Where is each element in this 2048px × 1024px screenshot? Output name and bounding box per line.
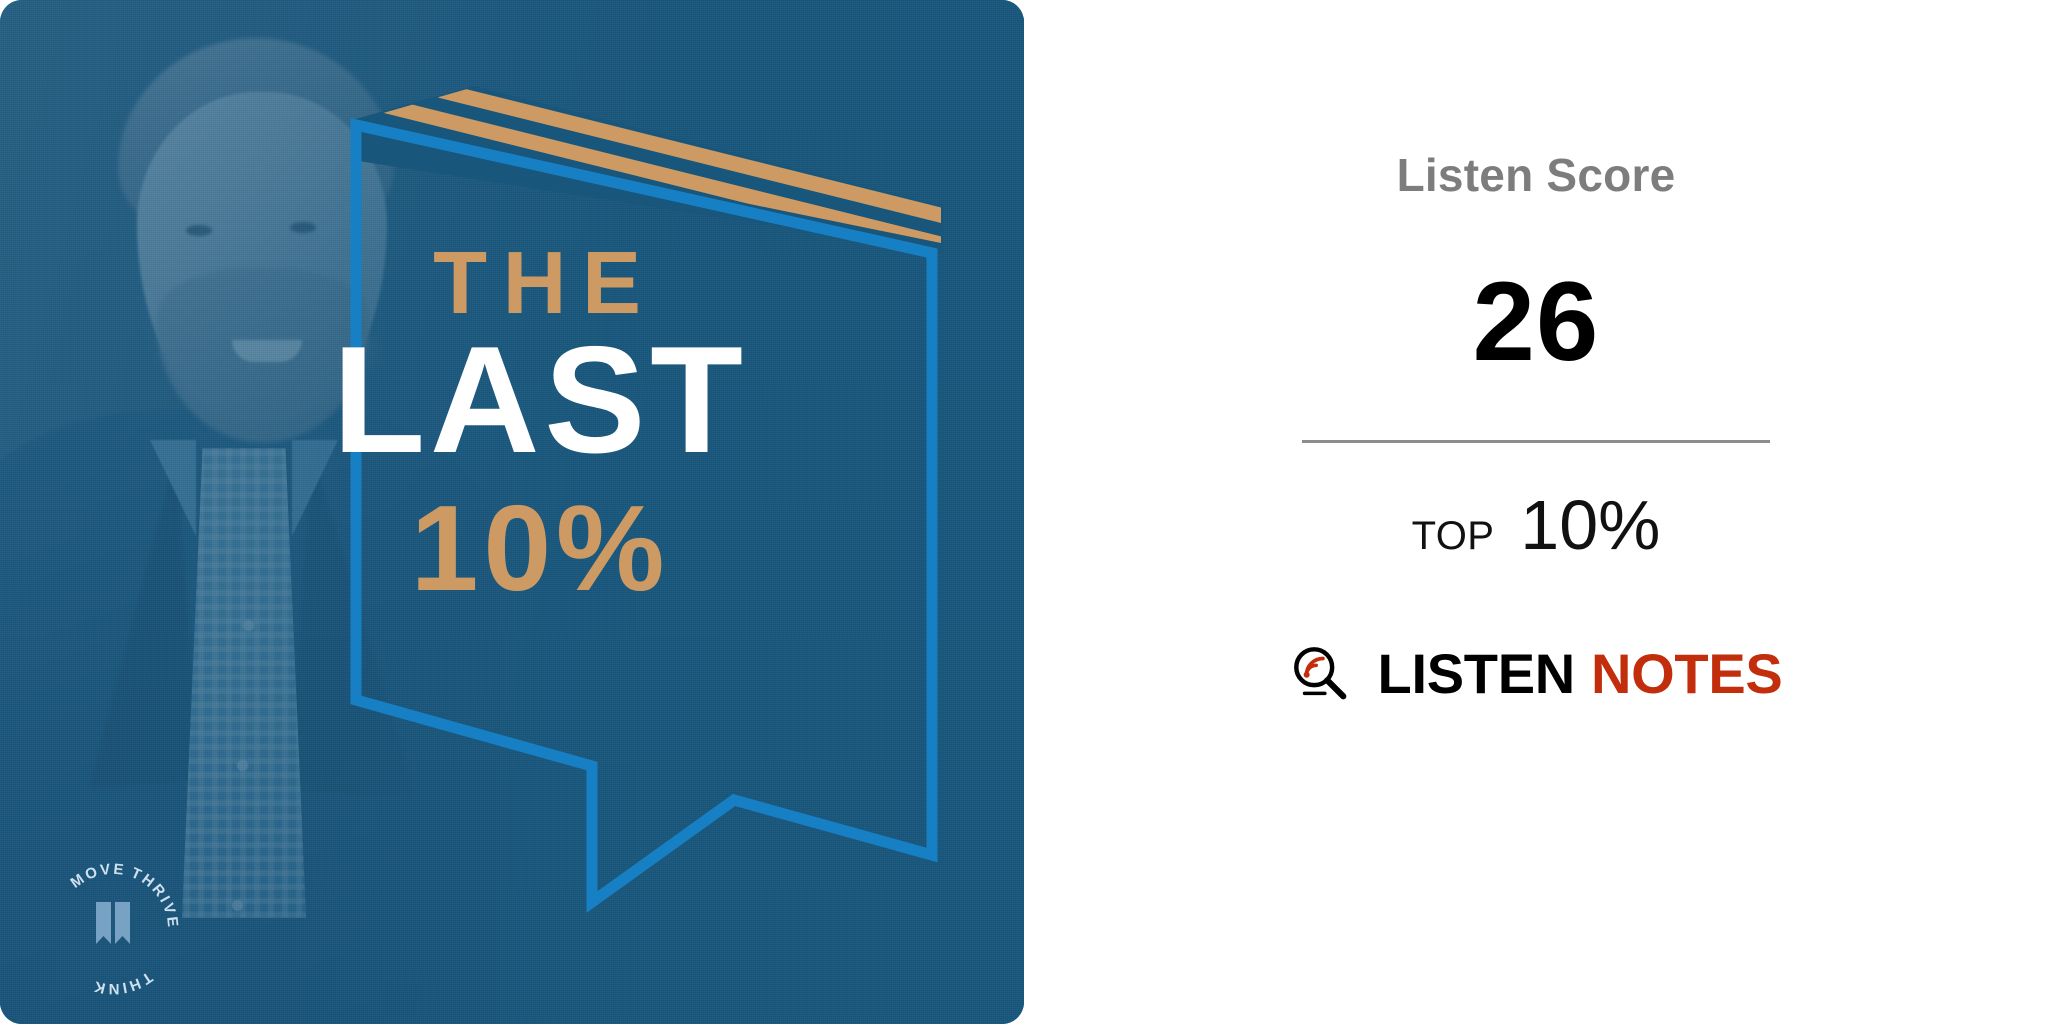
badge-text-think: THINK (90, 968, 155, 997)
listen-notes-logo[interactable]: LISTENNOTES (1290, 643, 1783, 705)
global-rank-row: TOP 10% (1412, 485, 1661, 565)
rank-percentile: 10% (1520, 485, 1660, 565)
badge-text-thrive: THRIVE (128, 865, 181, 930)
wordmark-notes: NOTES (1591, 642, 1783, 705)
listen-score-value: 26 (1473, 266, 1600, 378)
think-move-thrive-badge: MOVE THRIVE THINK (38, 854, 188, 1004)
score-divider (1302, 440, 1770, 443)
cover-word-ten-percent: 10% (411, 487, 670, 609)
listen-score-panel: Listen Score 26 TOP 10% (1024, 0, 2048, 1024)
cover-word-the: THE (433, 239, 657, 327)
cover-word-last: LAST (332, 324, 747, 476)
rank-label: TOP (1412, 514, 1495, 559)
listen-score-card: THE LAST 10% MOVE THRIVE THINK (0, 0, 2048, 1024)
open-book-icon (96, 902, 130, 944)
badge-text-move: MOVE (68, 861, 127, 892)
listen-notes-magnifier-rss-icon (1290, 643, 1352, 705)
podcast-cover-art[interactable]: THE LAST 10% MOVE THRIVE THINK (0, 0, 1024, 1024)
listen-score-title: Listen Score (1397, 152, 1676, 198)
wordmark-listen: LISTEN (1378, 642, 1575, 705)
listen-notes-wordmark: LISTENNOTES (1378, 646, 1783, 702)
